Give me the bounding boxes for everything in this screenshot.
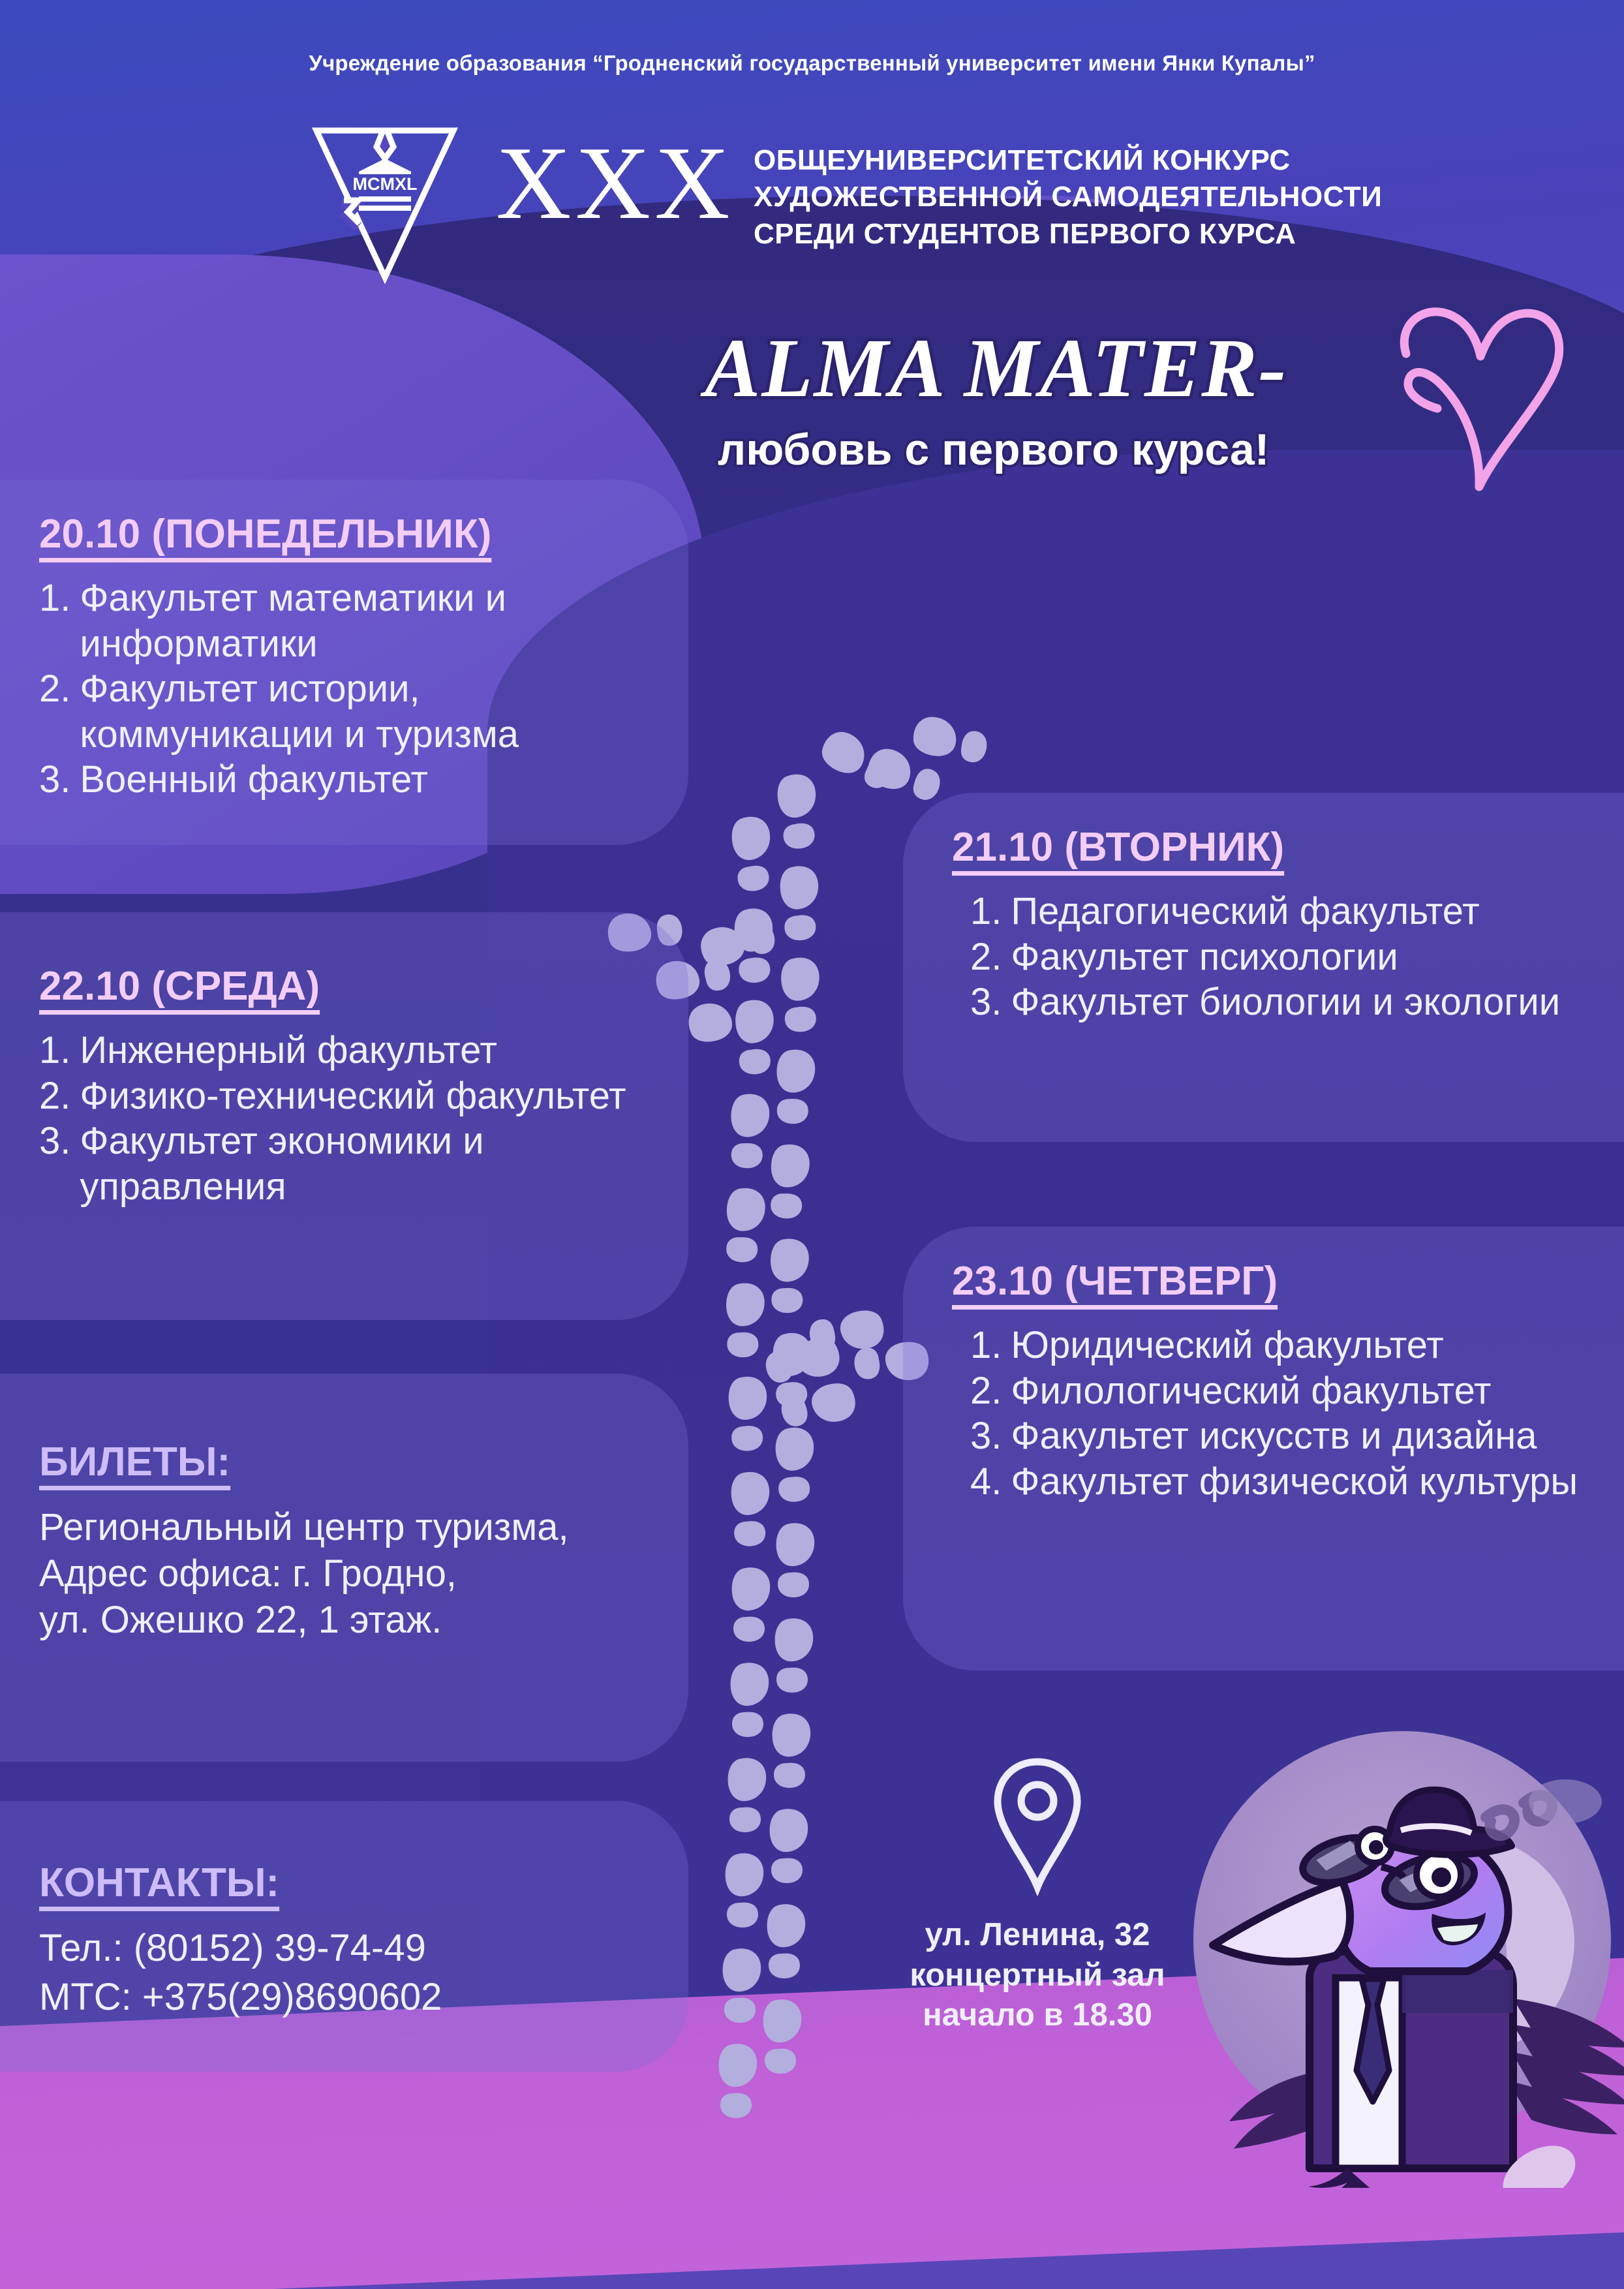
- list-item: 3. Факультет биологии и экологии: [970, 979, 1572, 1025]
- title-alma-mater: ALMA MATER-: [705, 326, 1488, 410]
- contacts-phone[interactable]: Тел.: (80152) 39-74-49: [39, 1926, 649, 1972]
- day-date-monday: 20.10 (ПОНЕДЕЛЬНИК): [39, 511, 649, 557]
- list-item: 3. Факультет искусств и дизайна: [970, 1413, 1604, 1459]
- list-item-label: Физико-технический факультет: [80, 1073, 649, 1119]
- list-item: 1. Юридический факультет: [970, 1323, 1604, 1368]
- list-item-number: 2.: [39, 1073, 70, 1119]
- contest-subtitle-line-3: СРЕДИ СТУДЕНТОВ ПЕРВОГО КУРСА: [754, 216, 1382, 253]
- schedule-card-tuesday: 21.10 (ВТОРНИК) 1. Педагогический факуль…: [903, 793, 1624, 1142]
- heart-icon: [1383, 294, 1572, 496]
- list-item-number: 1.: [970, 889, 1002, 934]
- day-faculty-list-thursday: 1. Юридический факультет 2. Филологическ…: [952, 1323, 1604, 1504]
- list-item-number: 2.: [39, 666, 70, 757]
- day-faculty-list-monday: 1. Факультет математики и информатики 2.…: [39, 576, 649, 803]
- organization-line: Учреждение образования “Гродненский госу…: [0, 51, 1624, 76]
- list-item: 2. Факультет истории, коммуникации и тур…: [39, 666, 649, 757]
- list-item: 3. Военный факультет: [39, 757, 649, 803]
- roman-numeral-xxx: XXX: [496, 131, 734, 235]
- day-faculty-list-wednesday: 1. Инженерный факультет 2. Физико-технич…: [39, 1028, 649, 1209]
- venue-address: ул. Ленина, 32 концертный зал начало в 1…: [868, 1915, 1207, 2036]
- list-item-number: 1.: [970, 1323, 1002, 1368]
- day-date-tuesday: 21.10 (ВТОРНИК): [952, 824, 1572, 870]
- contacts-card: КОНТАКТЫ: Тел.: (80152) 39-74-49 МТС: +3…: [0, 1801, 688, 2072]
- day-faculty-list-tuesday: 1. Педагогический факультет 2. Факультет…: [952, 889, 1572, 1025]
- day-date-thursday: 23.10 (ЧЕТВЕРГ): [952, 1258, 1604, 1304]
- event-title-block: ALMA MATER- любовь с первого курса!: [705, 326, 1488, 475]
- list-item: 1. Педагогический факультет: [970, 889, 1572, 934]
- contest-subtitle: ОБЩЕУНИВЕРСИТЕТСКИЙ КОНКУРС ХУДОЖЕСТВЕНН…: [754, 142, 1382, 253]
- list-item-number: 2.: [970, 1368, 1002, 1414]
- list-item-number: 3.: [970, 1413, 1002, 1459]
- list-item-label: Факультет истории, коммуникации и туризм…: [80, 666, 649, 757]
- list-item-label: Военный факультет: [80, 757, 649, 803]
- list-item-number: 4.: [970, 1459, 1002, 1505]
- list-item-label: Филологический факультет: [1011, 1368, 1604, 1414]
- list-item: 1. Факультет математики и информатики: [39, 576, 649, 666]
- list-item-label: Юридический факультет: [1011, 1323, 1604, 1368]
- tickets-heading: БИЛЕТЫ:: [39, 1439, 649, 1485]
- contacts-heading: КОНТАКТЫ:: [39, 1860, 649, 1906]
- list-item-number: 2.: [970, 934, 1002, 980]
- stork-mascot-icon: [1174, 1718, 1624, 2188]
- list-item-number: 1.: [39, 576, 70, 666]
- schedule-card-monday: 20.10 (ПОНЕДЕЛЬНИК) 1. Факультет математ…: [0, 480, 688, 845]
- title-subtitle: любовь с первого курса!: [718, 424, 1488, 475]
- list-item-label: Педагогический факультет: [1011, 889, 1572, 934]
- list-item-label: Факультет искусств и дизайна: [1011, 1413, 1604, 1459]
- list-item-number: 1.: [39, 1028, 70, 1073]
- list-item: 2. Филологический факультет: [970, 1368, 1604, 1414]
- schedule-card-wednesday: 22.10 (СРЕДА) 1. Инженерный факультет 2.…: [0, 912, 688, 1320]
- list-item-number: 3.: [39, 1118, 70, 1209]
- list-item-number: 3.: [970, 979, 1002, 1025]
- list-item-label: Факультет математики и информатики: [80, 576, 649, 666]
- list-item: 2. Физико-технический факультет: [39, 1073, 649, 1119]
- list-item-label: Факультет биологии и экологии: [1011, 979, 1572, 1025]
- schedule-card-thursday: 23.10 (ЧЕТВЕРГ) 1. Юридический факультет…: [903, 1227, 1624, 1670]
- list-item-label: Факультет физической культуры: [1011, 1459, 1604, 1505]
- list-item-label: Факультет психологии: [1011, 934, 1572, 980]
- list-item: 1. Инженерный факультет: [39, 1028, 649, 1073]
- tickets-body: Региональный центр туризма, Адрес офиса:…: [39, 1505, 649, 1643]
- list-item: 2. Факультет психологии: [970, 934, 1572, 980]
- map-pin-icon: [988, 1755, 1086, 1896]
- venue-block: ул. Ленина, 32 концертный зал начало в 1…: [868, 1755, 1207, 2036]
- day-date-wednesday: 22.10 (СРЕДА): [39, 963, 649, 1009]
- contest-subtitle-line-1: ОБЩЕУНИВЕРСИТЕТСКИЙ КОНКУРС: [754, 142, 1382, 179]
- contacts-mobile[interactable]: МТС: +375(29)8690602: [39, 1974, 649, 2021]
- list-item-label: Факультет экономики и управления: [80, 1118, 649, 1209]
- list-item: 4. Факультет физической культуры: [970, 1459, 1604, 1505]
- contest-subtitle-line-2: ХУДОЖЕСТВЕННОЙ САМОДЕЯТЕЛЬНОСТИ: [754, 179, 1382, 215]
- logo-year-text: MCMXL: [353, 174, 418, 194]
- university-logo: MCMXL: [303, 121, 467, 284]
- list-item-number: 3.: [39, 757, 70, 803]
- tickets-card: БИЛЕТЫ: Региональный центр туризма, Адре…: [0, 1374, 688, 1762]
- list-item-label: Инженерный факультет: [80, 1028, 649, 1073]
- poster-root: Учреждение образования “Гродненский госу…: [0, 0, 1624, 2289]
- list-item: 3. Факультет экономики и управления: [39, 1118, 649, 1209]
